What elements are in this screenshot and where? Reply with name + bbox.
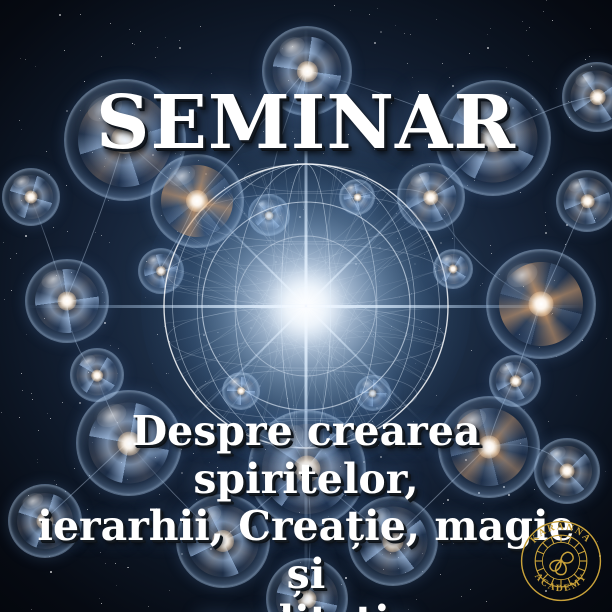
subtitle-line-3: meditație — [14, 598, 598, 612]
galaxy-bubble — [248, 194, 290, 236]
galaxy-bubble — [486, 249, 596, 359]
galaxy-bubble — [25, 259, 109, 343]
page-title: SEMINAR — [0, 86, 612, 160]
subtitle-block: Despre crearea spiritelor, ierarhii, Cre… — [14, 408, 598, 612]
poster-canvas: SEMINAR Despre crearea spiritelor, ierar… — [0, 0, 612, 612]
galaxy-bubble — [397, 163, 465, 231]
galaxy-bubble — [150, 154, 244, 248]
galaxy-bubble — [222, 372, 260, 410]
galaxy-bubble — [138, 248, 184, 294]
galaxy-bubble — [433, 249, 473, 289]
subtitle-line-1: Despre crearea spiritelor, — [14, 408, 598, 503]
galaxy-bubble — [355, 375, 391, 411]
galaxy-bubble — [2, 168, 60, 226]
karanna-academy-logo[interactable]: KARANNA ACADEMY — [518, 518, 604, 604]
triskelion-icon — [550, 552, 573, 574]
galaxy-bubble — [339, 179, 375, 215]
subtitle-line-2: ierarhii, Creație, magie și — [14, 503, 598, 598]
galaxy-bubble — [556, 170, 612, 232]
